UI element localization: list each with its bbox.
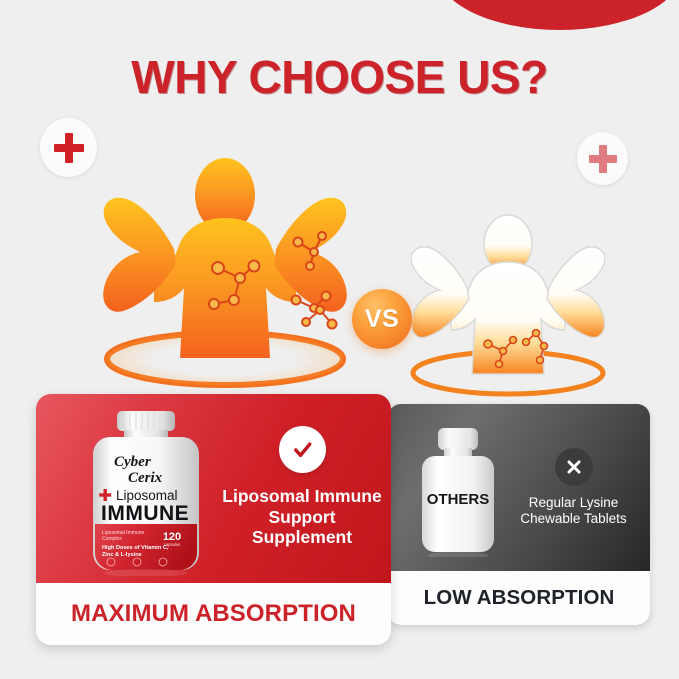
competitor-claim-text: Regular Lysine Chewable Tablets [520, 495, 626, 527]
close-icon [555, 448, 593, 486]
page-title: WHY CHOOSE US? [0, 50, 679, 104]
vs-badge: VS [352, 289, 412, 349]
product-line-text: Liposomal [116, 488, 178, 503]
product-bottle-image: Cyber Cerix Liposomal IMMUNE Liposomal I… [84, 410, 208, 576]
product-brand-line1: Cyber [114, 454, 151, 470]
product-claim: Liposomal Immune Support Supplement [222, 426, 382, 548]
competitor-panel-body: OTHERS Regular Lysine Chewable Tablets [388, 404, 650, 571]
product-claim-line1: Liposomal Immune [222, 486, 381, 506]
top-red-blob-decoration [437, 0, 679, 30]
product-brand-line2: Cerix [128, 470, 163, 486]
comparison-card-competitor[interactable]: OTHERS Regular Lysine Chewable Tablets L… [388, 404, 650, 625]
comparison-card-product[interactable]: Cyber Cerix Liposomal IMMUNE Liposomal I… [36, 394, 391, 645]
muscular-figure-filled [100, 152, 350, 394]
competitor-bottle-label: OTHERS [427, 491, 490, 508]
product-claim-line2: Zinc & L-lysine [102, 552, 142, 558]
product-claim-line2: Support Supplement [252, 507, 352, 548]
product-subtitle-line2: Complex [102, 536, 122, 542]
product-panel-body: Cyber Cerix Liposomal IMMUNE Liposomal I… [36, 394, 391, 583]
product-claim-text: Liposomal Immune Support Supplement [222, 486, 382, 548]
infographic-canvas: WHY CHOOSE US? [0, 0, 679, 679]
competitor-bottle-image: OTHERS [416, 426, 500, 557]
hero-comparison-illustration [0, 140, 679, 390]
check-icon [279, 426, 326, 473]
muscular-figure-empty [408, 210, 608, 400]
product-name-text: IMMUNE [101, 502, 189, 525]
competitor-claim-line2: Chewable Tablets [520, 511, 626, 526]
product-absorption-label: MAXIMUM ABSORPTION [71, 600, 356, 628]
competitor-claim-line1: Regular Lysine [529, 495, 619, 510]
product-count-unit: capsules [164, 542, 181, 547]
product-footer: MAXIMUM ABSORPTION [36, 583, 391, 645]
competitor-footer: LOW ABSORPTION [388, 571, 650, 625]
competitor-claim: Regular Lysine Chewable Tablets [506, 448, 641, 527]
competitor-absorption-label: LOW ABSORPTION [424, 586, 615, 610]
product-claim-line1: High Doses of Vitamin C, [102, 545, 169, 551]
